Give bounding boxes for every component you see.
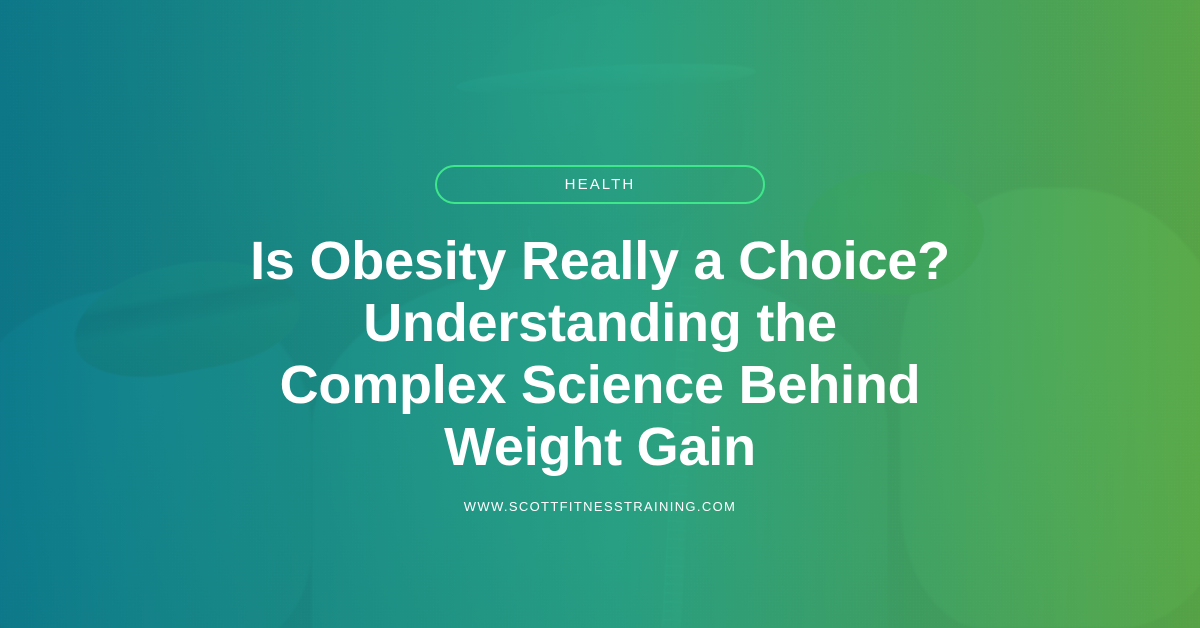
category-badge[interactable]: HEALTH [435,165,765,204]
headline-line-2: Understanding the [180,292,1020,354]
blog-hero-banner: HEALTH Is Obesity Really a Choice? Under… [0,0,1200,628]
banner-content: HEALTH Is Obesity Really a Choice? Under… [0,0,1200,628]
headline-line-3: Complex Science Behind [180,354,1020,416]
page-title: Is Obesity Really a Choice? Understandin… [180,230,1020,478]
category-badge-label: HEALTH [565,177,636,192]
site-url[interactable]: WWW.SCOTTFITNESSTRAINING.COM [464,500,737,513]
headline-line-1: Is Obesity Really a Choice? [180,230,1020,292]
headline-line-4: Weight Gain [180,416,1020,478]
